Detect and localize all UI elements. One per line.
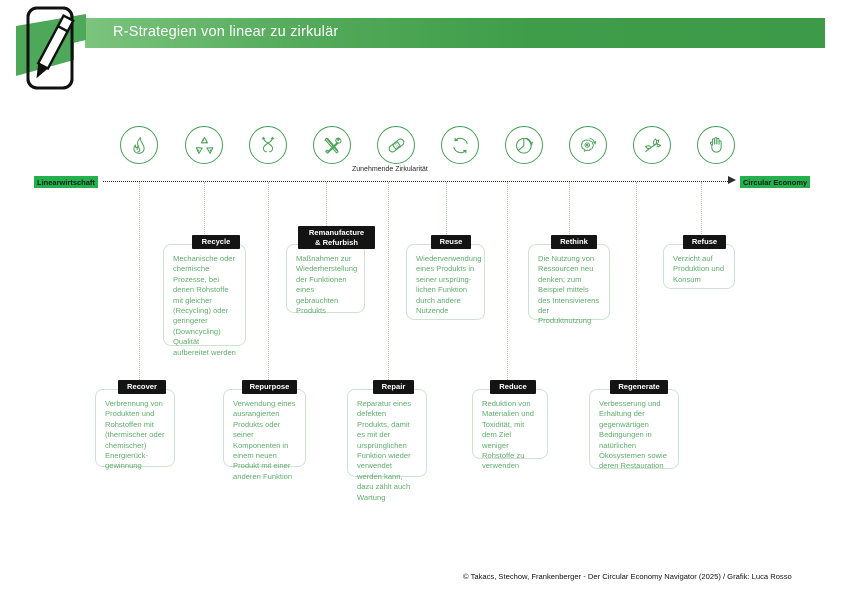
card-refuse[interactable]: Verzicht auf Produktion und Konsum bbox=[663, 244, 735, 289]
card-rethink-text: Die Nutzung von Ressourcen neu denken; z… bbox=[538, 254, 601, 327]
axis-caption: Zunehmende Zirkularität bbox=[352, 166, 428, 173]
card-tag-rethink: Rethink bbox=[551, 235, 597, 249]
card-repurpose-text: Verwendung eines ausrangierten Produkts … bbox=[233, 399, 297, 482]
connector-regenerate bbox=[636, 182, 637, 380]
card-reduce[interactable]: Reduktion von Materialien und Toxidität,… bbox=[472, 389, 548, 459]
card-tag-repair: Repair bbox=[373, 380, 414, 394]
page-title: R-Strategien von linear zu zirkulär bbox=[113, 24, 338, 40]
leaf-icon bbox=[633, 126, 671, 164]
card-tag-refuse: Refuse bbox=[683, 235, 726, 249]
connector-repair bbox=[388, 182, 389, 380]
card-tag-remanufacture: Remanufacture & Refurbish bbox=[298, 226, 375, 249]
card-reuse-text: Wiederverwendung eines Produkts in seine… bbox=[416, 254, 476, 316]
arrow-right-icon bbox=[728, 176, 736, 184]
card-repurpose[interactable]: Verwendung eines ausrangierten Produkts … bbox=[223, 389, 306, 467]
recycling-icon bbox=[185, 126, 223, 164]
card-repair-text: Reparatur eines defekten Produkts, damit… bbox=[357, 399, 418, 503]
hand-stop-icon bbox=[697, 126, 735, 164]
footer-credit: © Takacs, Stechow, Frankenberger - Der C… bbox=[463, 572, 792, 581]
card-recycle-text: Mechanische oder chemische Prozesse, bei… bbox=[173, 254, 237, 358]
card-recover-text: Verbrennung von Produkten und Rohstoffen… bbox=[105, 399, 166, 472]
brain-gear-icon bbox=[569, 126, 607, 164]
card-remanufacture[interactable]: Maßnahmen zur Wiederherstellung der Funk… bbox=[286, 244, 365, 313]
connector-repurpose bbox=[268, 182, 269, 380]
connector-recover bbox=[139, 182, 140, 380]
card-rethink[interactable]: Die Nutzung von Ressourcen neu denken; z… bbox=[528, 244, 610, 320]
pie-reduce-icon bbox=[505, 126, 543, 164]
card-tag-reduce: Reduce bbox=[490, 380, 536, 394]
card-reduce-text: Reduktion von Materialien und Toxidität,… bbox=[482, 399, 539, 472]
card-tag-regenerate: Regenerate bbox=[610, 380, 668, 394]
circular-arrows-icon bbox=[441, 126, 479, 164]
card-recover[interactable]: Verbrennung von Produkten und Rohstoffen… bbox=[95, 389, 175, 467]
card-recycle[interactable]: Mechanische oder chemische Prozesse, bei… bbox=[163, 244, 246, 346]
card-reuse[interactable]: Wiederverwendung eines Produkts in seine… bbox=[406, 244, 485, 320]
axis-label-circular: Circular Economy bbox=[740, 176, 810, 188]
connector-reuse bbox=[446, 182, 447, 234]
card-regenerate[interactable]: Verbesserung und Erhaltung der gegenwärt… bbox=[589, 389, 679, 469]
repurpose-icon bbox=[249, 126, 287, 164]
connector-reduce bbox=[507, 182, 508, 380]
tools-icon bbox=[313, 126, 351, 164]
connector-remanufacture bbox=[326, 182, 327, 228]
card-tag-repurpose: Repurpose bbox=[242, 380, 297, 394]
card-repair[interactable]: Reparatur eines defekten Produkts, damit… bbox=[347, 389, 427, 477]
card-regenerate-text: Verbesserung und Erhaltung der gegenwärt… bbox=[599, 399, 670, 472]
card-tag-reuse: Reuse bbox=[431, 235, 471, 249]
flame-icon bbox=[120, 126, 158, 164]
card-tag-recycle: Recycle bbox=[192, 235, 240, 249]
connector-rethink bbox=[569, 182, 570, 234]
card-refuse-text: Verzicht auf Produktion und Konsum bbox=[673, 254, 726, 285]
axis-label-linear: Linearwirtschaft bbox=[34, 176, 98, 188]
connector-refuse bbox=[701, 182, 702, 234]
notebook-pencil-logo bbox=[16, 6, 86, 92]
card-remanufacture-text: Maßnahmen zur Wiederherstellung der Funk… bbox=[296, 254, 356, 316]
card-tag-recover: Recover bbox=[118, 380, 166, 394]
connector-recycle bbox=[204, 182, 205, 234]
bandage-icon bbox=[377, 126, 415, 164]
